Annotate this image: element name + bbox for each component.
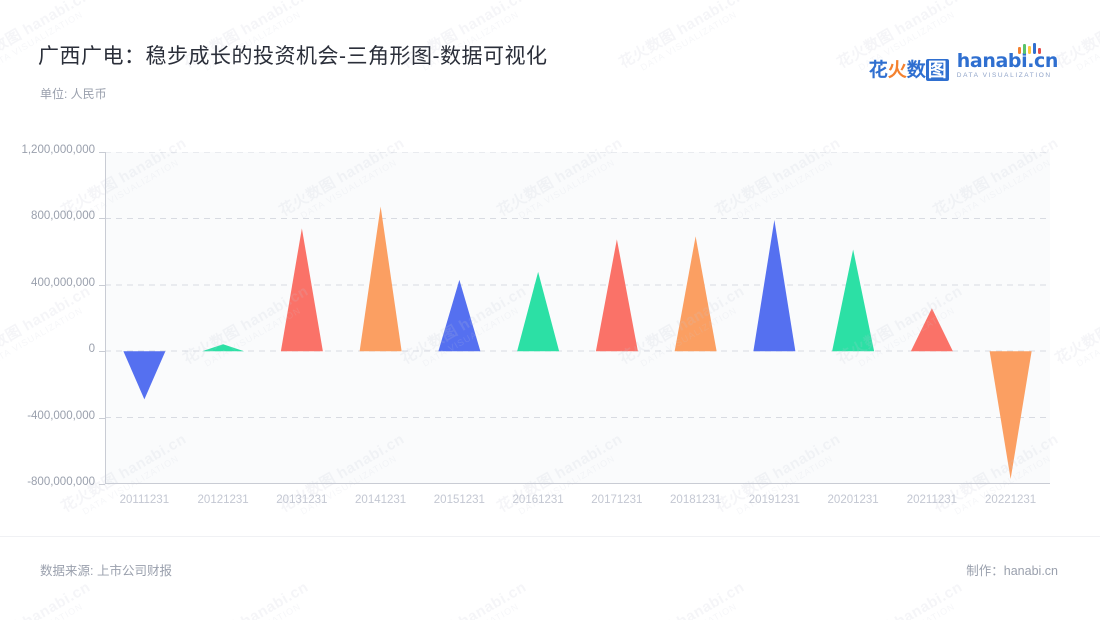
tick-label-layer: -800,000,000-400,000,0000400,000,000800,… (0, 0, 1100, 620)
x-axis-tick-label: 20221231 (966, 494, 1056, 506)
x-axis-tick-label: 20181231 (651, 494, 741, 506)
y-axis-tick-label: 1,200,000,000 (5, 144, 95, 156)
y-tick (99, 152, 105, 153)
x-axis-tick-label: 20191231 (729, 494, 819, 506)
y-axis-tick-label: 400,000,000 (5, 277, 95, 289)
y-tick (99, 418, 105, 419)
maker-label: 制作：hanabi.cn (966, 560, 1058, 579)
x-axis-tick-label: 20131231 (257, 494, 347, 506)
chart-page: 花火数图 hanabi.cnDATA VISUALIZATION花火数图 han… (0, 0, 1100, 620)
y-axis-tick-label: 800,000,000 (5, 210, 95, 222)
y-tick (99, 218, 105, 219)
x-axis-tick-label: 20111231 (99, 494, 189, 506)
y-axis-tick-label: 0 (5, 343, 95, 355)
x-axis-tick-label: 20161231 (493, 494, 583, 506)
x-axis-tick-label: 20141231 (336, 494, 426, 506)
y-axis-tick-label: -800,000,000 (5, 476, 95, 488)
x-axis-tick-label: 20201231 (808, 494, 898, 506)
y-tick (99, 484, 105, 485)
y-axis-tick-label: -400,000,000 (5, 410, 95, 422)
y-tick (99, 285, 105, 286)
x-axis-tick-label: 20211231 (887, 494, 977, 506)
data-source-label: 数据来源: 上市公司财报 (40, 560, 172, 579)
x-axis-tick-label: 20151231 (414, 494, 504, 506)
x-axis-tick-label: 20121231 (178, 494, 268, 506)
x-axis-tick-label: 20171231 (572, 494, 662, 506)
y-tick (99, 351, 105, 352)
